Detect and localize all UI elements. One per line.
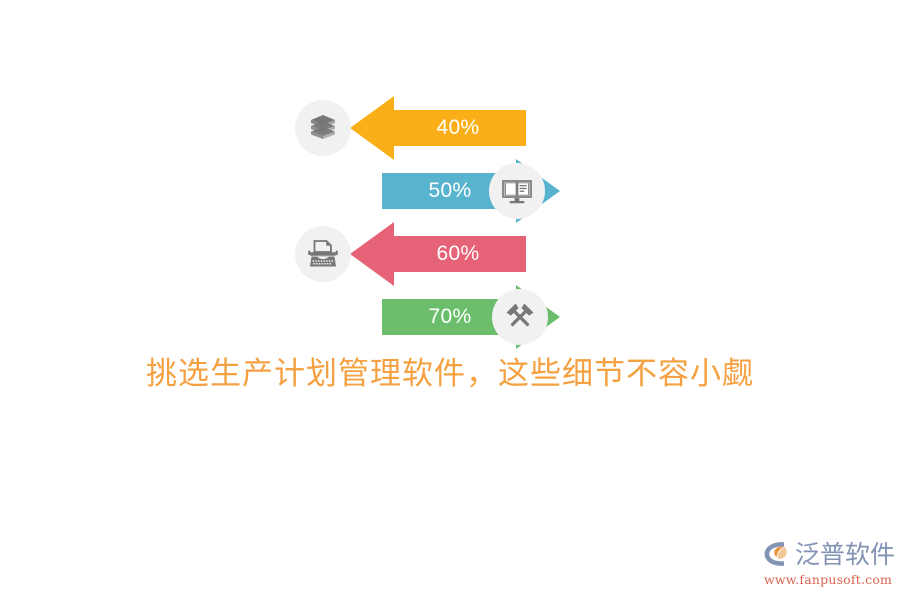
infographic-row-1: 40% [290,96,590,160]
infographic-row-2: 50% [290,159,590,223]
books-stack-icon [306,111,340,145]
fanpu-logo-icon [762,539,792,569]
infographic-canvas: 40% [0,0,900,600]
crossed-hammers-icon [503,300,537,334]
badge-open-book [489,163,545,219]
arrow-bar-1 [350,96,526,160]
infographic-row-4: 70% [290,285,590,349]
logo-company-name: 泛普软件 [795,542,895,567]
typewriter-icon [306,237,340,271]
headline-title: 挑选生产计划管理软件，这些细节不容小觑 [0,348,900,393]
badge-typewriter [295,226,351,282]
brand-logo[interactable]: 泛普软件 www.fanpusoft.com [762,538,894,590]
badge-crossed-hammers [492,289,548,345]
badge-books-stack [295,100,351,156]
open-book-icon [500,174,534,208]
arrow-bar-3 [350,222,526,286]
infographic-row-3: 60% [290,222,590,286]
logo-website-url: www.fanpusoft.com [764,572,894,587]
logo-row: 泛普软件 [762,538,894,570]
